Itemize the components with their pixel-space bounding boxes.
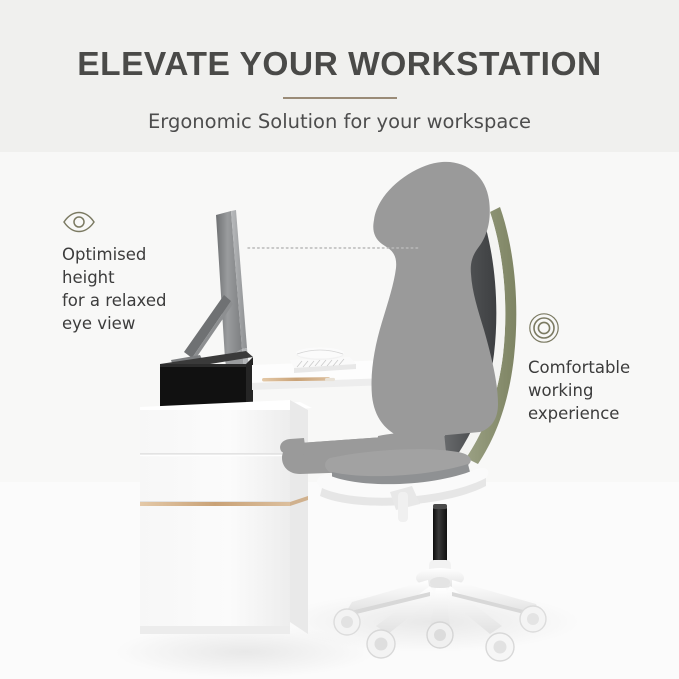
page-subtitle: Ergonomic Solution for your workspace bbox=[0, 110, 679, 133]
annotation-optimised-height-text: Optimised height for a relaxed eye view bbox=[62, 243, 166, 335]
annotation-comfortable-working: Comfortable working experience bbox=[528, 312, 630, 425]
title-divider bbox=[283, 97, 397, 99]
poster-canvas: ELEVATE YOUR WORKSTATION Ergonomic Solut… bbox=[0, 0, 679, 679]
eye-icon bbox=[62, 211, 166, 233]
annotation-comfortable-working-text: Comfortable working experience bbox=[528, 356, 630, 425]
header-band: ELEVATE YOUR WORKSTATION Ergonomic Solut… bbox=[0, 0, 679, 152]
concentric-rings-icon bbox=[528, 312, 630, 344]
desk-cabinet bbox=[140, 400, 308, 634]
annotation-optimised-height: Optimised height for a relaxed eye view bbox=[62, 211, 166, 335]
page-title: ELEVATE YOUR WORKSTATION bbox=[0, 46, 679, 84]
mouse bbox=[296, 348, 344, 361]
